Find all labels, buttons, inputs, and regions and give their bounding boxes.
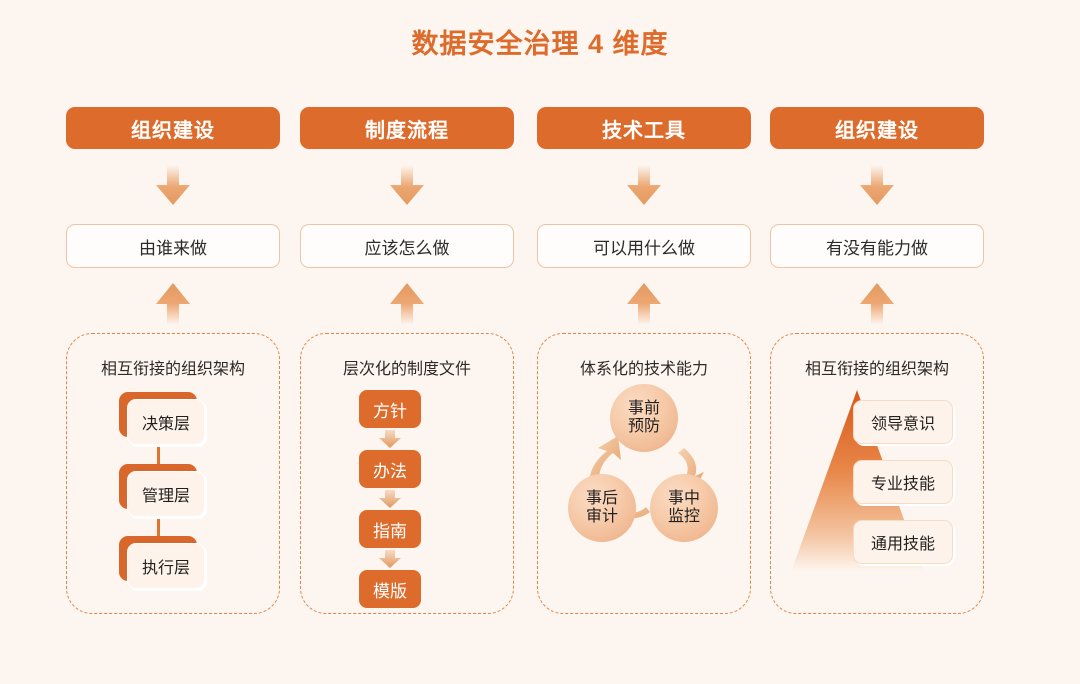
question-box[interactable]: 应该怎么做 bbox=[300, 224, 514, 268]
capability-cycle: 事前 预防 事中 监控 事后 审计 bbox=[538, 382, 750, 607]
column-header-pill[interactable]: 组织建设 bbox=[66, 107, 280, 149]
skill-box[interactable]: 领导意识 bbox=[853, 400, 953, 444]
layer-stack: 决策层 管理层 执行层 bbox=[67, 392, 279, 607]
arrow-up-icon bbox=[627, 283, 661, 325]
cycle-node-line1: 事前 bbox=[628, 400, 660, 418]
panel-organization: 相互衔接的组织架构 决策层 管理层 执行层 bbox=[66, 333, 280, 614]
doc-box[interactable]: 指南 bbox=[359, 510, 421, 548]
cycle-node-prevention[interactable]: 事前 预防 bbox=[610, 384, 678, 452]
cycle-node-line2: 预防 bbox=[628, 418, 660, 436]
layer-label: 管理层 bbox=[127, 471, 205, 517]
layer-connector bbox=[157, 442, 160, 464]
column-technology: 技术工具 可以用什么做 bbox=[537, 0, 751, 684]
column-policy: 制度流程 应该怎么做 bbox=[300, 0, 514, 684]
panel-title: 相互衔接的组织架构 bbox=[771, 355, 983, 379]
column-header-pill[interactable]: 制度流程 bbox=[300, 107, 514, 149]
chain-arrow-icon bbox=[379, 430, 401, 448]
layer-connector bbox=[157, 514, 160, 536]
question-box[interactable]: 可以用什么做 bbox=[537, 224, 751, 268]
question-box[interactable]: 有没有能力做 bbox=[770, 224, 984, 268]
chain-arrow-icon bbox=[379, 550, 401, 568]
cycle-node-line2: 监控 bbox=[668, 508, 700, 526]
column-header-pill[interactable]: 组织建设 bbox=[770, 107, 984, 149]
column-capability: 组织建设 有没有能力做 bbox=[770, 0, 984, 684]
cycle-node-monitoring[interactable]: 事中 监控 bbox=[650, 474, 718, 542]
layer-item[interactable]: 决策层 bbox=[119, 392, 201, 441]
panel-title: 层次化的制度文件 bbox=[301, 355, 513, 379]
arrow-up-icon bbox=[390, 283, 424, 325]
panel-title: 体系化的技术能力 bbox=[538, 355, 750, 379]
layer-label: 决策层 bbox=[127, 399, 205, 445]
doc-chain: 方针 办法 bbox=[301, 390, 513, 610]
cycle-node-line1: 事后 bbox=[586, 490, 618, 508]
diagram-canvas: 数据安全治理 4 维度 组织建设 由谁来做 bbox=[0, 0, 1080, 684]
column-header-pill[interactable]: 技术工具 bbox=[537, 107, 751, 149]
doc-box[interactable]: 模版 bbox=[359, 570, 421, 608]
layer-item[interactable]: 执行层 bbox=[119, 536, 201, 585]
panel-technology: 体系化的技术能力 bbox=[537, 333, 751, 614]
skill-box[interactable]: 通用技能 bbox=[853, 520, 953, 564]
panel-capability: 相互衔接的组织架构 领导意识 bbox=[770, 333, 984, 614]
panel-policy: 层次化的制度文件 方针 bbox=[300, 333, 514, 614]
question-box[interactable]: 由谁来做 bbox=[66, 224, 280, 268]
arrow-down-icon bbox=[860, 165, 894, 205]
skill-box[interactable]: 专业技能 bbox=[853, 460, 953, 504]
chain-arrow-icon bbox=[379, 490, 401, 508]
arrow-down-icon bbox=[627, 165, 661, 205]
doc-box[interactable]: 办法 bbox=[359, 450, 421, 488]
layer-item[interactable]: 管理层 bbox=[119, 464, 201, 513]
arrow-up-icon bbox=[156, 283, 190, 325]
layer-label: 执行层 bbox=[127, 543, 205, 589]
skills-pyramid: 领导意识 专业技能 通用技能 bbox=[771, 384, 983, 609]
panel-title: 相互衔接的组织架构 bbox=[67, 355, 279, 379]
arrow-up-icon bbox=[860, 283, 894, 325]
column-organization: 组织建设 由谁来做 bbox=[66, 0, 280, 684]
cycle-node-line2: 审计 bbox=[586, 508, 618, 526]
cycle-node-audit[interactable]: 事后 审计 bbox=[568, 474, 636, 542]
cycle-node-line1: 事中 bbox=[668, 490, 700, 508]
arrow-down-icon bbox=[390, 165, 424, 205]
columns-container: 组织建设 由谁来做 bbox=[0, 0, 1080, 684]
arrow-down-icon bbox=[156, 165, 190, 205]
doc-box[interactable]: 方针 bbox=[359, 390, 421, 428]
